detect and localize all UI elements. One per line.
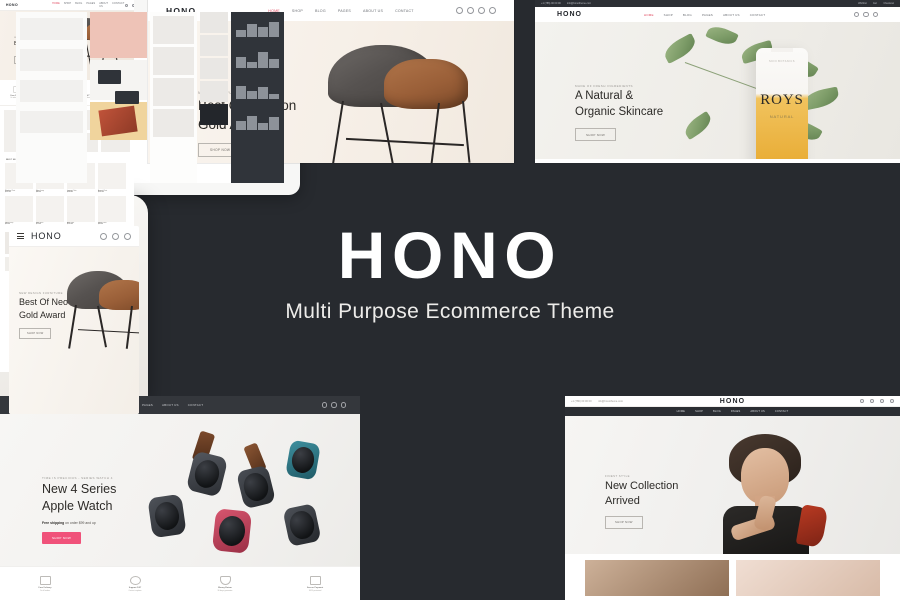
heart-icon[interactable] <box>467 7 474 14</box>
product-card[interactable]: Table Lamp $59.00 <box>5 196 33 226</box>
layout-thumb[interactable] <box>153 109 195 137</box>
product-price: $129.00 <box>5 192 33 193</box>
product-price: $199.00 <box>98 192 126 193</box>
service-title: Support 24/7 <box>90 587 180 589</box>
layout-column-strip <box>200 12 228 183</box>
layout-column-images <box>90 12 146 183</box>
layout-thumb-dark[interactable] <box>200 104 228 125</box>
service-sub: 30 days guarantee <box>180 590 270 592</box>
watch-product[interactable] <box>212 508 252 554</box>
service-title: Secure Payment <box>270 587 360 589</box>
product-price: $59.00 <box>5 224 33 225</box>
service-item: Secure Payment 100% protected <box>270 576 360 592</box>
nav-item-shop[interactable]: SHOP <box>664 13 673 17</box>
nav-item-contact[interactable]: CONTACT <box>188 403 204 407</box>
product-image <box>5 196 33 222</box>
shipping-strong: Free shipping <box>42 521 64 525</box>
model-photo <box>705 434 829 554</box>
nav-menu: HOME SHOP BLOG PAGES ABOUT US CONTACT <box>268 9 413 13</box>
nav-item-home[interactable]: HOME <box>52 2 60 8</box>
nav-item-home[interactable]: HOME <box>677 410 685 413</box>
nav-item-contact[interactable]: CONTACT <box>750 13 766 17</box>
chair-leg <box>68 305 76 349</box>
mobile-hero-banner: NEW DESIGN FURNITURE Best Of NeoCon Gold… <box>9 247 139 414</box>
nav-menu: HOME SHOP BLOG PAGES ABOUT US CONTACT <box>52 2 124 8</box>
brand-logo[interactable]: HONO <box>31 231 62 241</box>
nav-item-blog[interactable]: BLOG <box>315 9 326 13</box>
leaf-shape <box>705 23 739 49</box>
product-card[interactable]: Side Stool $79.00 <box>36 196 64 226</box>
watch-product[interactable] <box>147 494 186 538</box>
bottle-brand-label: ROYS <box>756 92 808 109</box>
nav-item-shop[interactable]: SHOP <box>64 2 71 8</box>
nav-item-pages[interactable]: PAGES <box>731 410 741 413</box>
panel-tablet-device[interactable] <box>0 0 300 195</box>
chair-crossbar <box>78 329 139 334</box>
panel-mobile-device[interactable]: HONO NEW DESIGN FURNITURE Best Of NeoCon… <box>0 195 148 399</box>
chair-seat <box>99 280 139 310</box>
site-navbar: HONO HOME SHOP BLOG PAGES ABOUT US CONTA… <box>0 0 134 11</box>
service-sub: Contact anytime <box>90 590 180 592</box>
nav-menu: HOME SHOP BLOG PAGES ABOUT US CONTACT <box>565 407 900 416</box>
service-sub: 100% protected <box>270 590 360 592</box>
category-tile[interactable] <box>736 560 880 596</box>
nav-item-about[interactable]: ABOUT US <box>363 9 383 13</box>
layout-thumb[interactable] <box>200 35 228 56</box>
bottle-cap <box>771 48 793 52</box>
panel-fashion-page[interactable]: +1 (786) 00 00 00 info@honotheme.com HON… <box>565 396 900 600</box>
product-price: $79.00 <box>36 224 64 225</box>
hero-banner: FINEST STYLE New Collection Arrived SHOP… <box>565 416 900 554</box>
search-icon[interactable] <box>100 233 107 240</box>
header-icons <box>322 402 347 408</box>
shop-now-button[interactable]: SHOP NOW <box>19 328 51 339</box>
layout-thumb[interactable] <box>20 18 83 40</box>
nav-item-pages[interactable]: PAGES <box>338 9 351 13</box>
layout-bars <box>236 81 279 99</box>
chair-leg <box>462 101 471 163</box>
nav-item-blog[interactable]: BLOG <box>683 13 692 17</box>
topbar-link-cart[interactable]: Cart <box>873 2 878 5</box>
bottle-tiny-text: SKIN BOTANICS <box>756 60 808 63</box>
product-bottle: SKIN BOTANICS ROYS NATURAL <box>756 48 808 159</box>
layout-thumb[interactable] <box>20 49 83 71</box>
search-icon[interactable] <box>860 399 864 403</box>
product-card[interactable]: Arm Chair $219.00 <box>67 196 95 226</box>
heart-icon[interactable] <box>112 233 119 240</box>
header-icons <box>125 4 134 7</box>
mobile-navbar: HONO <box>9 226 139 247</box>
layout-bars <box>236 112 279 130</box>
shipping-rest: on order $99 and up <box>64 521 95 525</box>
topbar-link-wishlist[interactable]: Wishlist <box>858 2 867 5</box>
service-row: Free Delivery On all orders Support 24/7… <box>0 566 360 600</box>
product-image <box>36 196 64 222</box>
service-item: Free Delivery On all orders <box>0 576 90 592</box>
header-icons <box>854 12 879 18</box>
user-icon[interactable] <box>870 399 874 403</box>
chair-illustration <box>63 271 139 349</box>
cart-icon[interactable] <box>124 233 131 240</box>
phone-screen: HONO NEW DESIGN FURNITURE Best Of NeoCon… <box>9 226 139 414</box>
layout-thumb[interactable] <box>20 111 83 133</box>
nav-item-shop[interactable]: SHOP <box>695 410 703 413</box>
layout-thumb[interactable] <box>153 78 195 106</box>
service-sub: On all orders <box>0 590 90 592</box>
cart-icon[interactable] <box>873 12 879 18</box>
product-price: $249.00 <box>67 192 95 193</box>
poster-stage: HONO HOME SHOP BLOG PAGES ABOUT US CONTA… <box>0 0 900 600</box>
watch-product[interactable] <box>285 440 321 481</box>
user-icon[interactable] <box>489 7 496 14</box>
topbar-link-checkout[interactable]: Checkout <box>883 2 894 5</box>
layout-thumb[interactable] <box>200 58 228 79</box>
product-image <box>98 196 126 222</box>
topbar-email: info@honotheme.com <box>567 2 592 5</box>
header-icons <box>456 7 496 14</box>
nav-item-about[interactable]: ABOUT US <box>162 403 179 407</box>
layout-bars <box>236 19 279 37</box>
panel-watch-page[interactable]: HONO HOME SHOP BLOG PAGES ABOUT US CONTA… <box>0 396 360 600</box>
chair-leg <box>97 306 107 348</box>
hero-eyebrow: MADE OF FRESH INGREDIENTS <box>575 84 900 88</box>
utility-topbar: +1 (786) 00 00 00 info@honotheme.com HON… <box>565 396 900 407</box>
heart-icon[interactable] <box>863 12 869 18</box>
cart-icon[interactable] <box>478 7 485 14</box>
shield-guarantee-icon <box>220 576 231 585</box>
layout-tile-orange[interactable] <box>90 102 146 140</box>
hamburger-icon[interactable] <box>17 231 24 240</box>
brand-logo[interactable]: HONO <box>557 11 582 18</box>
heart-icon[interactable] <box>132 4 134 7</box>
layout-thumb[interactable] <box>200 12 228 33</box>
product-image <box>67 196 95 222</box>
search-icon[interactable] <box>456 7 463 14</box>
heart-icon[interactable] <box>341 402 347 408</box>
search-icon[interactable] <box>322 402 328 408</box>
search-icon[interactable] <box>854 12 860 18</box>
nav-item-about[interactable]: ABOUT US <box>99 2 108 8</box>
nav-item-blog[interactable]: BLOG <box>75 2 82 8</box>
utility-topbar: +1 (786) 00 00 00 info@honotheme.com Wis… <box>535 0 900 7</box>
site-navbar: HONO HOME SHOP BLOG PAGES ABOUT US CONTA… <box>535 7 900 22</box>
chair-leg <box>126 306 133 349</box>
chair-crossbar <box>346 138 464 146</box>
layout-thumb[interactable] <box>200 81 228 102</box>
product-price: $39.00 <box>98 224 126 225</box>
chair-illustration <box>322 45 490 163</box>
chair-leg <box>430 103 440 163</box>
chair-leg <box>380 103 394 163</box>
layout-column-preview <box>150 12 198 183</box>
leaf-shape <box>661 33 699 64</box>
brand-logo[interactable]: HONO <box>565 398 900 405</box>
nav-item-contact[interactable]: CONTACT <box>775 410 788 413</box>
nav-item-home[interactable]: HOME <box>644 13 654 17</box>
model-red-garment <box>796 504 829 548</box>
nav-item-pages[interactable]: PAGES <box>86 2 95 8</box>
nav-item-shop[interactable]: SHOP <box>292 9 303 13</box>
nav-item-about[interactable]: ABOUT US <box>723 13 740 17</box>
nav-item-blog[interactable]: BLOG <box>713 410 721 413</box>
layout-badge <box>115 91 139 105</box>
panel-skincare[interactable]: +1 (786) 00 00 00 info@honotheme.com Wis… <box>535 0 900 163</box>
layout-bars <box>236 50 279 68</box>
cart-icon[interactable] <box>890 399 894 403</box>
service-title: Free Delivery <box>0 587 90 589</box>
bottle-sub-label: NATURAL <box>756 114 808 119</box>
hero-title-line1: A Natural & <box>575 90 900 104</box>
layout-badge <box>98 70 120 84</box>
layout-thumb[interactable] <box>153 47 195 75</box>
nav-item-pages[interactable]: PAGES <box>702 13 713 17</box>
heart-icon[interactable] <box>880 399 884 403</box>
shop-now-button[interactable]: SHOP NOW <box>575 128 616 141</box>
product-card[interactable]: Green Plant $39.00 <box>98 196 126 226</box>
chair-seat <box>384 59 468 109</box>
credit-card-icon <box>310 576 321 585</box>
hero-banner: TIME IS PRECIOUS - SERIES WATCH 4 New 4 … <box>0 414 360 566</box>
layout-column-sidebar <box>16 12 87 183</box>
service-item: Support 24/7 Contact anytime <box>90 576 180 592</box>
hero-banner: MADE OF FRESH INGREDIENTS A Natural & Or… <box>535 22 900 159</box>
category-tile[interactable] <box>585 560 729 596</box>
chair-leg <box>332 101 345 163</box>
category-tiles <box>565 554 900 596</box>
service-item: Money Return 30 days guarantee <box>180 576 270 592</box>
mobile-header-icons <box>100 233 131 240</box>
layout-thumb[interactable] <box>20 80 83 102</box>
brand-logo[interactable]: HONO <box>6 3 18 7</box>
hero-title-line2: Organic Skincare <box>575 106 900 120</box>
nav-item-contact[interactable]: CONTACT <box>395 9 414 13</box>
tablet-screen <box>16 12 284 183</box>
layout-tile-pink[interactable] <box>90 12 146 58</box>
shop-now-button[interactable]: SHOP NOW <box>605 516 643 529</box>
nav-item-about[interactable]: ABOUT US <box>750 410 764 413</box>
topbar-phone: +1 (786) 00 00 00 <box>541 2 561 5</box>
nav-item-pages[interactable]: PAGES <box>142 403 153 407</box>
service-title: Money Return <box>180 587 270 589</box>
shop-now-button[interactable]: SHOP NOW <box>42 532 81 544</box>
layout-column-dark-panel <box>231 12 284 183</box>
layout-thumb[interactable] <box>153 16 195 44</box>
nav-menu: HOME SHOP BLOG PAGES ABOUT US CONTACT <box>644 13 765 17</box>
product-price: $89.00 <box>36 192 64 193</box>
cart-icon[interactable] <box>331 402 337 408</box>
headset-support-icon <box>130 576 141 585</box>
delivery-truck-icon <box>40 576 51 585</box>
product-price: $219.00 <box>67 224 95 225</box>
search-icon[interactable] <box>125 4 128 7</box>
nav-item-contact[interactable]: CONTACT <box>112 2 124 8</box>
